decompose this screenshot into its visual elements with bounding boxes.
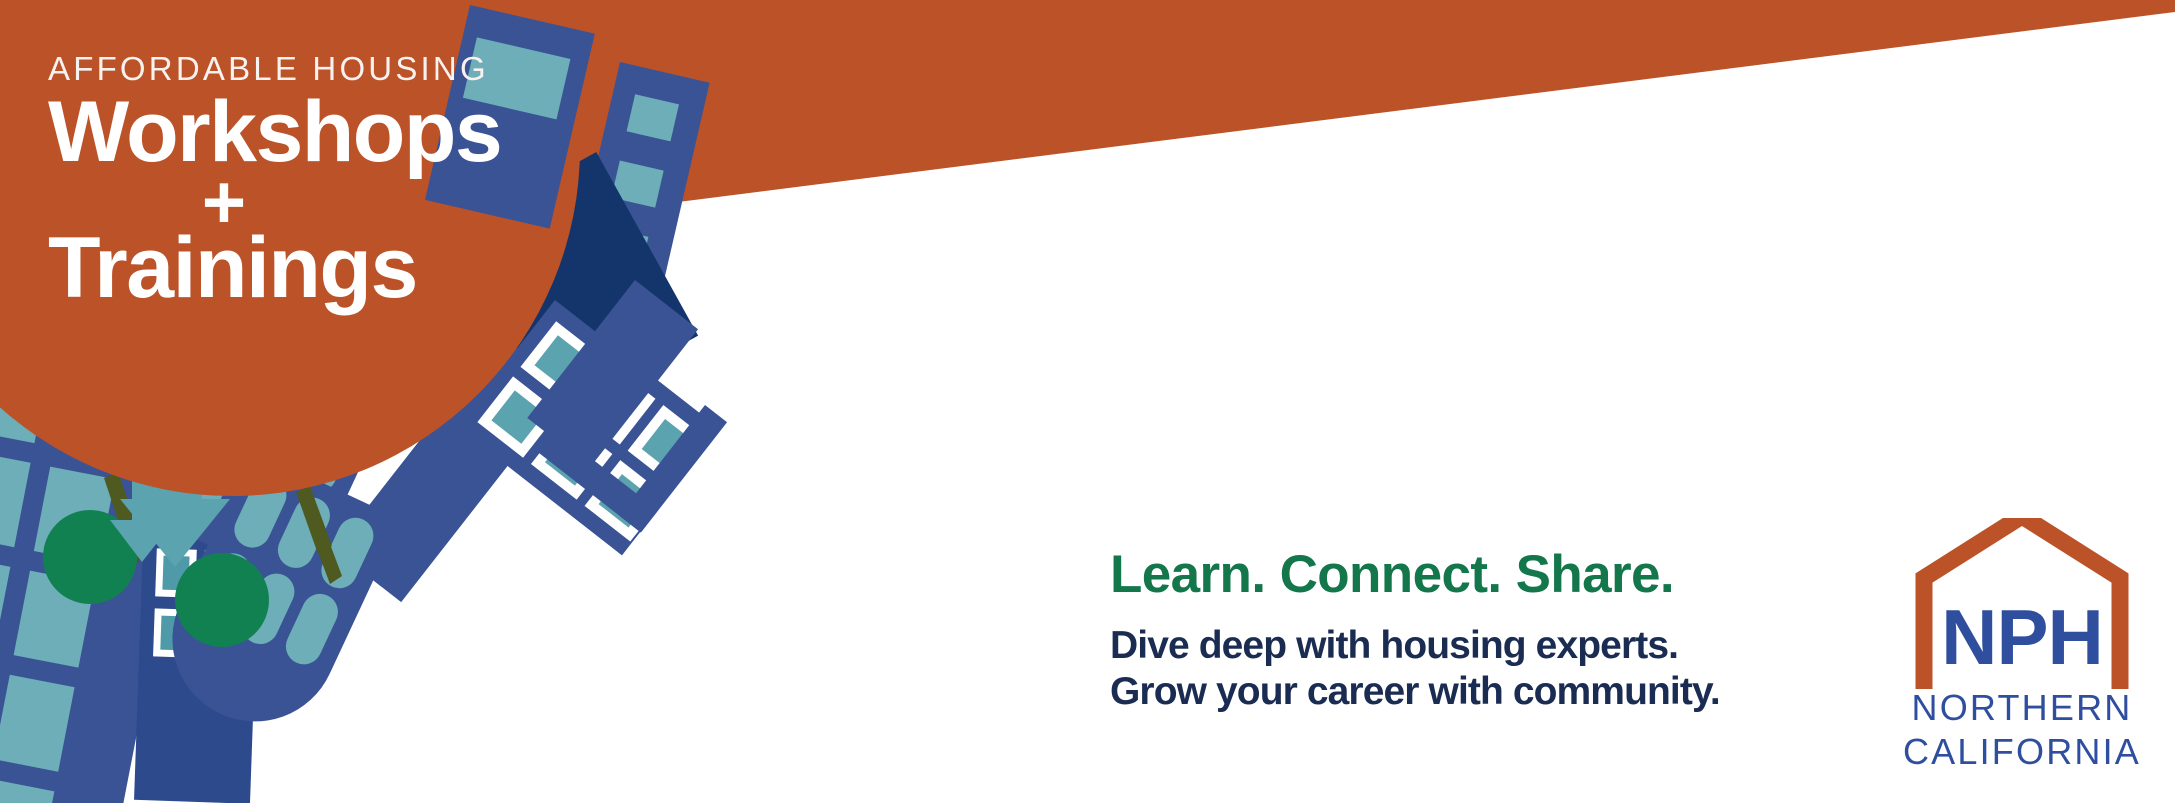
logo-acronym: NPH (1902, 598, 2142, 676)
logo-subtitle-northern: NORTHERN (1902, 690, 2142, 726)
headline-block: AFFORDABLE HOUSING Workshops + Trainings (48, 52, 688, 311)
tagline-heading: Learn. Connect. Share. (1110, 548, 1720, 601)
tagline-subline-1: Dive deep with housing experts. (1110, 623, 1720, 669)
tree-canopy-right (175, 553, 269, 647)
nph-logo[interactable]: NPH NORTHERN CALIFORNIA (1902, 518, 2142, 783)
banner-root: AFFORDABLE HOUSING Workshops + Trainings… (0, 0, 2175, 803)
tagline-subline-2: Grow your career with community. (1110, 669, 1720, 715)
title-line-trainings: Trainings (48, 226, 688, 310)
tagline-block: Learn. Connect. Share. Dive deep with ho… (1110, 548, 1720, 715)
title-line-workshops: Workshops (48, 91, 688, 174)
logo-subtitle-california: CALIFORNIA (1902, 734, 2142, 770)
eyebrow-text: AFFORDABLE HOUSING (48, 52, 688, 85)
